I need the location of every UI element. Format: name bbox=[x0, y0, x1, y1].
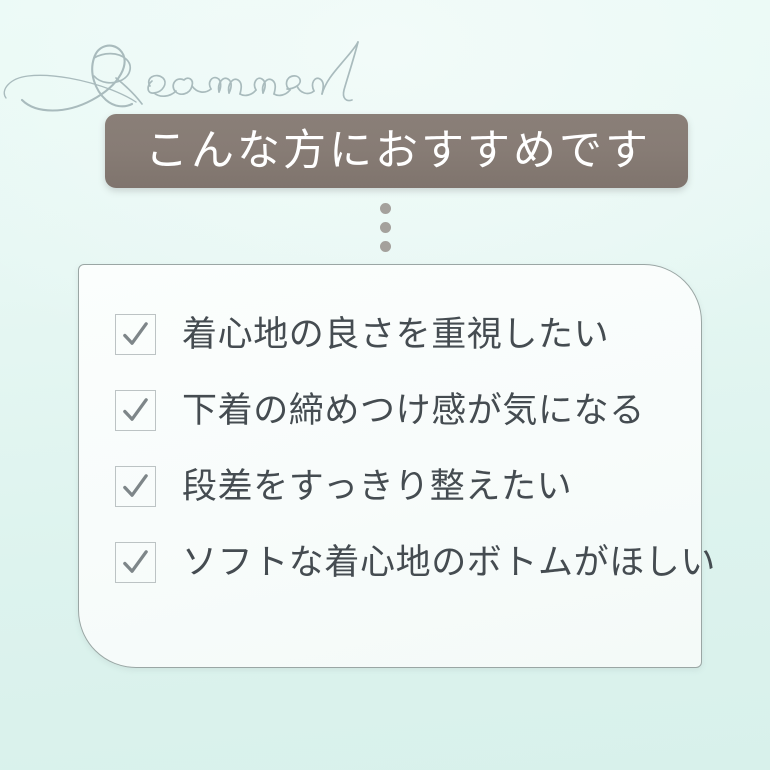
checkbox-checked-icon bbox=[115, 390, 156, 431]
checkbox-checked-icon bbox=[115, 542, 156, 583]
recommend-banner: こんな方におすすめです bbox=[105, 114, 688, 188]
promo-graphic: こんな方におすすめです 着心地の良さを重視したい bbox=[0, 0, 770, 770]
list-item: 着心地の良さを重視したい bbox=[115, 311, 677, 357]
list-item-label: 段差をすっきり整えたい bbox=[182, 469, 572, 504]
list-item-label: 下着の締めつけ感が気になる bbox=[182, 393, 645, 428]
checkbox-checked-icon bbox=[115, 314, 156, 355]
checklist-card: 着心地の良さを重視したい 下着の締めつけ感が気になる 段差をすっきり整えたい bbox=[78, 264, 702, 668]
banner-title: こんな方におすすめです bbox=[142, 130, 651, 173]
list-item: ソフトな着心地のボトムがほしい bbox=[115, 539, 677, 585]
connector-dot bbox=[380, 241, 391, 252]
checkbox-checked-icon bbox=[115, 466, 156, 507]
recommend-script-heading bbox=[0, 28, 380, 120]
list-item: 段差をすっきり整えたい bbox=[115, 463, 677, 509]
connector-dot bbox=[380, 203, 391, 214]
list-item: 下着の締めつけ感が気になる bbox=[115, 387, 677, 433]
list-item-label: ソフトな着心地のボトムがほしい bbox=[182, 545, 716, 580]
connector-dots bbox=[0, 203, 770, 252]
checklist: 着心地の良さを重視したい 下着の締めつけ感が気になる 段差をすっきり整えたい bbox=[115, 311, 677, 585]
connector-dot bbox=[380, 222, 391, 233]
recommend-script-artwork bbox=[0, 28, 380, 120]
list-item-label: 着心地の良さを重視したい bbox=[182, 317, 609, 352]
